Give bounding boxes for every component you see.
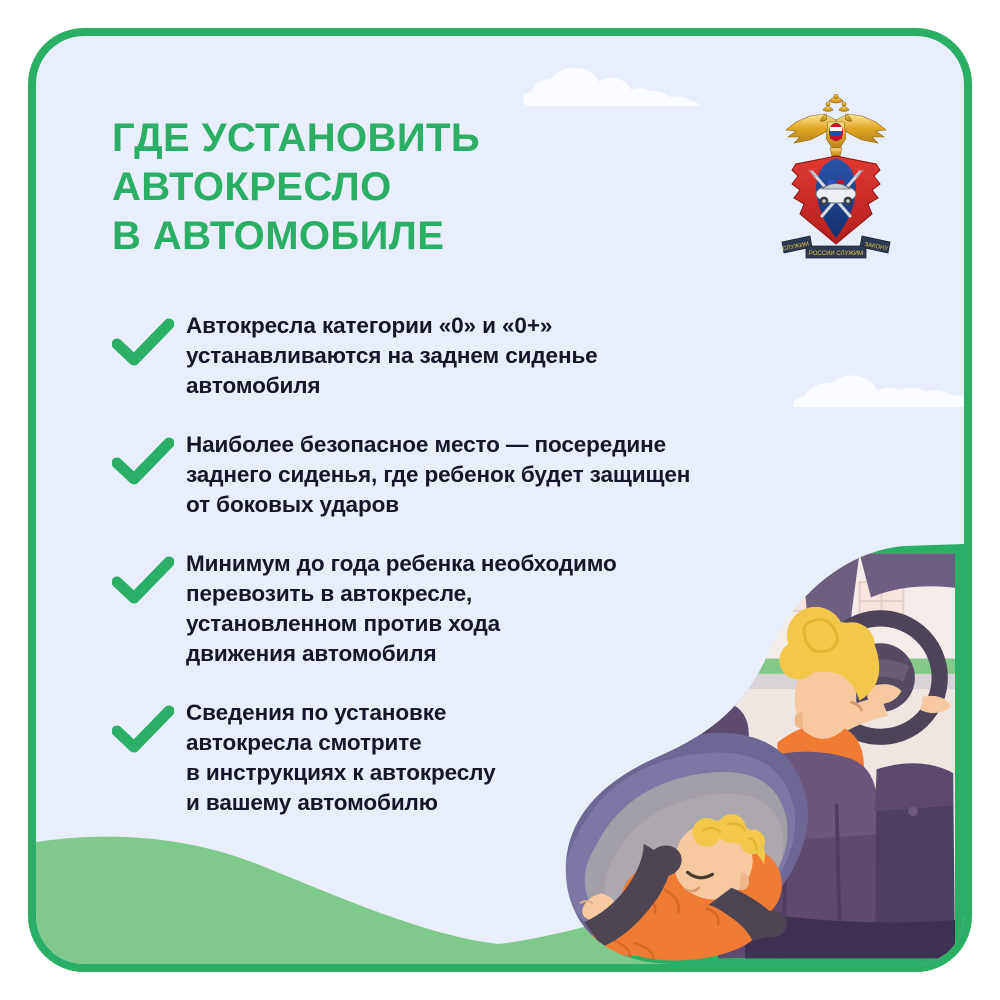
page-title: ГДЕ УСТАНОВИТЬ АВТОКРЕСЛО В АВТОМОБИЛЕ — [112, 114, 672, 261]
check-icon — [112, 705, 174, 755]
list-item: Автокресла категории «0» и «0+» устанавл… — [112, 308, 812, 401]
poster-card-inner: ГДЕ УСТАНОВИТЬ АВТОКРЕСЛО В АВТОМОБИЛЕ — [36, 36, 964, 964]
mvd-emblem-icon: СЛУЖИМ РОССИИ СЛУЖИМ ЗАКОНУ — [776, 94, 896, 264]
list-item: Наиболее безопасное место — посередине з… — [112, 427, 812, 520]
emblem-ribbon-center: РОССИИ СЛУЖИМ — [809, 251, 863, 257]
cloud-icon-middle — [791, 371, 964, 411]
check-icon — [112, 318, 174, 368]
list-item-text: Автокресла категории «0» и «0+» устанавл… — [186, 308, 812, 401]
poster-card: ГДЕ УСТАНОВИТЬ АВТОКРЕСЛО В АВТОМОБИЛЕ — [28, 28, 972, 972]
car-seat-illustration — [564, 544, 964, 964]
infographic-poster: ГДЕ УСТАНОВИТЬ АВТОКРЕСЛО В АВТОМОБИЛЕ — [0, 0, 1000, 1000]
check-icon — [112, 556, 174, 606]
list-item-text: Наиболее безопасное место — посередине з… — [186, 427, 812, 520]
check-icon — [112, 437, 174, 487]
infant-car-seat — [564, 733, 808, 961]
cloud-icon-top — [523, 66, 723, 111]
